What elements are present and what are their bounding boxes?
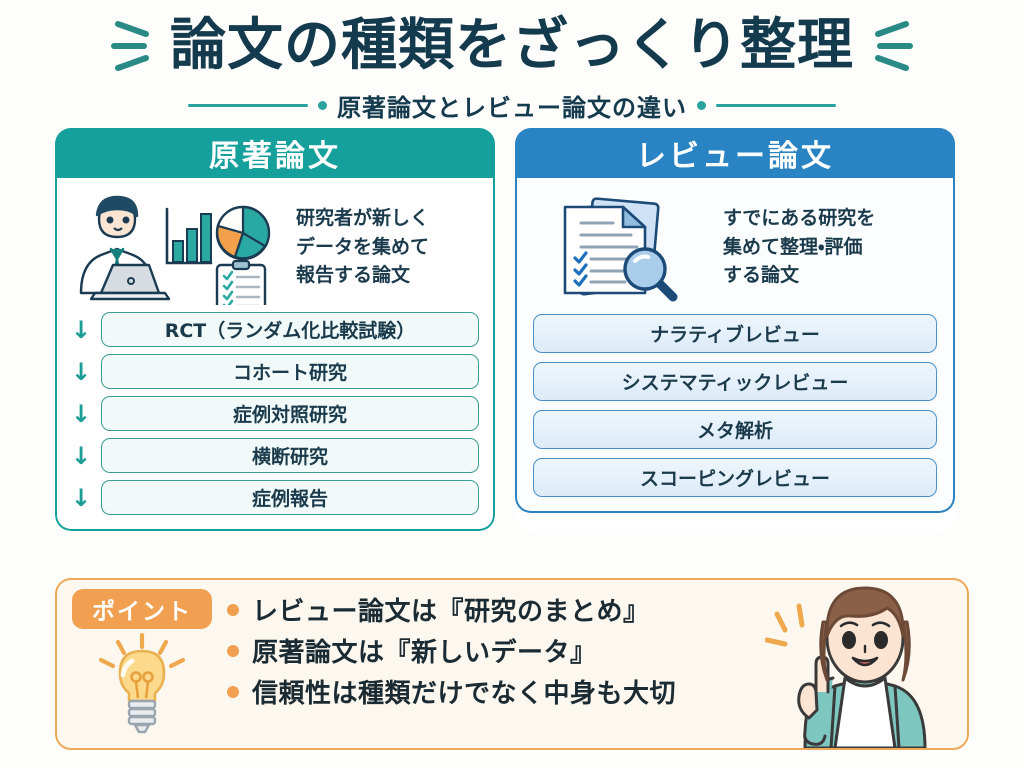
- arrow-down-icon: ↓: [71, 360, 91, 384]
- card-review-body: すでにある研究を 集めて整理・評価 する論文 ナラティブレビュー システマティッ…: [515, 178, 955, 513]
- list-item: 原著論文は『新しいデータ』: [227, 632, 676, 669]
- point-bullet-1: レビュー論文は『研究のまとめ』: [252, 591, 650, 628]
- review-paper-type-list: ナラティブレビュー システマティックレビュー メタ解析 スコーピングレビュー: [531, 312, 939, 497]
- card-review-desc-line-1: すでにある研究を: [723, 204, 875, 233]
- pill-case-report[interactable]: 症例報告: [101, 480, 479, 515]
- stacked-documents-with-magnifier-icon: [543, 189, 713, 305]
- card-original-desc-line-3: 報告する論文: [296, 261, 429, 290]
- woman-pointing-up-icon: [765, 578, 955, 748]
- list-item[interactable]: ↓ コホート研究: [71, 354, 479, 389]
- lightbulb-icon: [88, 629, 196, 737]
- list-item: 信頼性は種類だけでなく中身も大切: [227, 673, 676, 710]
- pill-case-control[interactable]: 症例対照研究: [101, 396, 479, 431]
- pill-rct[interactable]: RCT（ランダム化比較試験）: [101, 312, 479, 347]
- card-original-heading: 原著論文: [55, 128, 495, 178]
- point-badge: ポイント: [72, 589, 212, 629]
- bullet-dot-icon: [227, 686, 239, 698]
- pill-narrative-review[interactable]: ナラティブレビュー: [533, 314, 937, 353]
- arrow-down-icon: ↓: [71, 486, 91, 510]
- pill-meta-analysis[interactable]: メタ解析: [533, 410, 937, 449]
- list-item[interactable]: ↓ RCT（ランダム化比較試験）: [71, 312, 479, 347]
- bullet-dot-icon: [227, 645, 239, 657]
- pill-cohort[interactable]: コホート研究: [101, 354, 479, 389]
- pill-cross-sectional[interactable]: 横断研究: [101, 438, 479, 473]
- card-original-paper: 原著論文: [55, 128, 495, 531]
- arrow-down-icon: ↓: [71, 444, 91, 468]
- card-review-description: すでにある研究を 集めて整理・評価 する論文: [723, 204, 875, 290]
- list-item[interactable]: ナラティブレビュー: [533, 314, 937, 353]
- point-bullet-3: 信頼性は種類だけでなく中身も大切: [252, 673, 676, 710]
- card-review-desc-line-2: 集めて整理・評価: [723, 233, 875, 262]
- original-paper-type-list: ↓ RCT（ランダム化比較試験） ↓ コホート研究 ↓ 症例対照研究 ↓ 横断研…: [71, 312, 479, 515]
- three-stroke-accent-right-icon: [868, 16, 914, 76]
- point-box-left: ポイント: [57, 580, 227, 737]
- list-item[interactable]: ↓ 症例対照研究: [71, 396, 479, 431]
- researcher-with-laptop-bar-chart-pie-chart-clipboard-icon: [71, 189, 286, 305]
- header-block: 論文の種類をざっくり整理 原著論文とレビュー論文の違い: [0, 0, 1024, 122]
- subtitle-rule-right: [716, 104, 836, 107]
- cards-container: 原著論文: [0, 128, 1024, 531]
- pill-scoping-review[interactable]: スコーピングレビュー: [533, 458, 937, 497]
- point-bullet-2: 原著論文は『新しいデータ』: [252, 632, 597, 669]
- card-original-body: 研究者が新しく データを集めて 報告する論文 ↓ RCT（ランダム化比較試験） …: [55, 178, 495, 531]
- subtitle-row: 原著論文とレビュー論文の違い: [0, 88, 1024, 122]
- page-title: 論文の種類をざっくり整理: [170, 18, 854, 74]
- card-review-paper: レビュー論文: [515, 128, 955, 531]
- list-item[interactable]: ↓ 症例報告: [71, 480, 479, 515]
- point-bullet-list: レビュー論文は『研究のまとめ』 原著論文は『新しいデータ』 信頼性は種類だけでな…: [227, 580, 676, 710]
- card-original-desc-line-2: データを集めて: [296, 233, 429, 262]
- bullet-dot-icon: [227, 604, 239, 616]
- list-item[interactable]: スコーピングレビュー: [533, 458, 937, 497]
- card-review-desc-line-3: する論文: [723, 261, 875, 290]
- title-row: 論文の種類をざっくり整理: [0, 8, 1024, 84]
- card-original-top: 研究者が新しく データを集めて 報告する論文: [71, 188, 479, 306]
- subtitle-rule-left: [188, 104, 308, 107]
- arrow-down-icon: ↓: [71, 318, 91, 342]
- pill-systematic-review[interactable]: システマティックレビュー: [533, 362, 937, 401]
- point-box: ポイント レビュー論: [55, 578, 969, 750]
- card-review-heading: レビュー論文: [515, 128, 955, 178]
- subtitle-dot-right: [697, 101, 706, 110]
- card-review-top: すでにある研究を 集めて整理・評価 する論文: [531, 188, 939, 306]
- list-item[interactable]: メタ解析: [533, 410, 937, 449]
- list-item: レビュー論文は『研究のまとめ』: [227, 591, 676, 628]
- arrow-down-icon: ↓: [71, 402, 91, 426]
- subtitle-dot-left: [318, 101, 327, 110]
- card-original-desc-line-1: 研究者が新しく: [296, 204, 429, 233]
- card-original-description: 研究者が新しく データを集めて 報告する論文: [296, 204, 429, 290]
- list-item[interactable]: システマティックレビュー: [533, 362, 937, 401]
- page-subtitle: 原著論文とレビュー論文の違い: [337, 88, 687, 123]
- three-stroke-accent-left-icon: [110, 16, 156, 76]
- list-item[interactable]: ↓ 横断研究: [71, 438, 479, 473]
